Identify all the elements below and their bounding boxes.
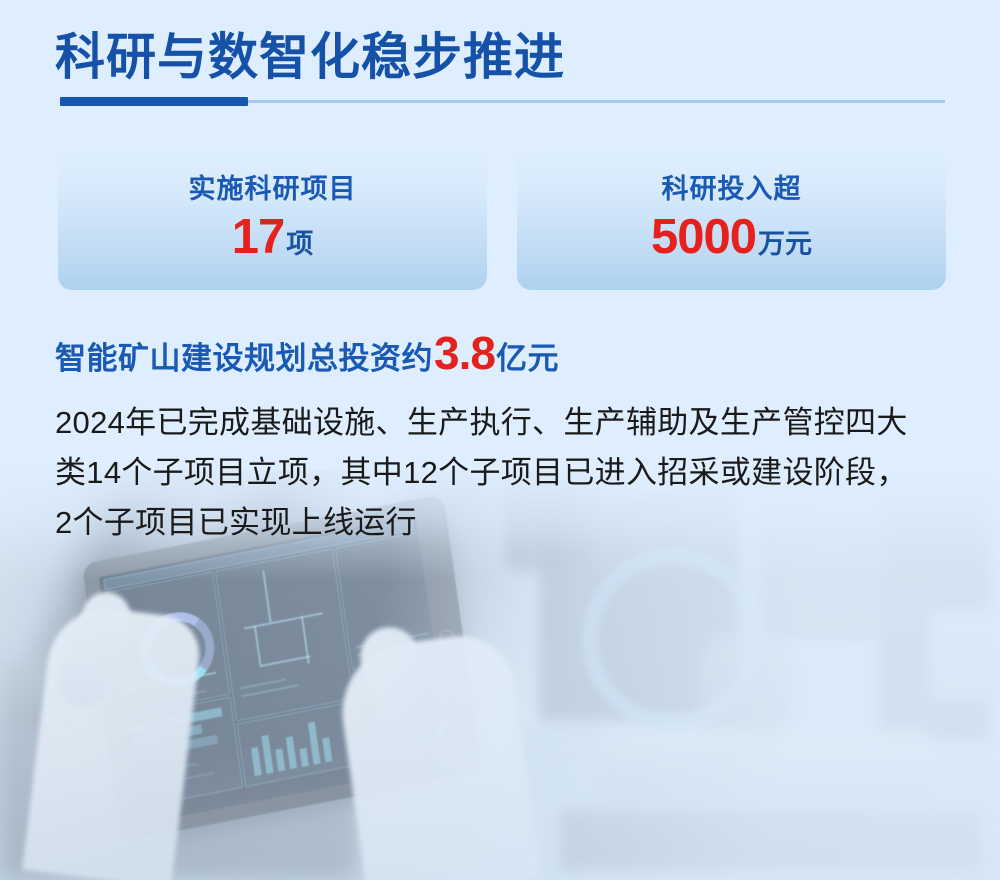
stat-number: 5000 <box>651 213 756 262</box>
stat-card-list: 实施科研项目 17 项 科研投入超 5000 万元 <box>58 152 946 290</box>
stat-card-research-investment: 科研投入超 5000 万元 <box>517 152 946 290</box>
body-paragraph: 2024年已完成基础设施、生产执行、生产辅助及生产管控四大类14个子项目立项，其… <box>55 398 915 548</box>
divider-accent-bar <box>60 97 248 106</box>
highlight-prefix: 智能矿山建设规划总投资约 <box>55 343 433 374</box>
stat-label: 科研投入超 <box>662 176 802 203</box>
stat-value: 17 项 <box>232 213 314 262</box>
stat-unit: 万元 <box>758 231 812 258</box>
stat-value: 5000 万元 <box>651 213 812 262</box>
infographic-poster: 科研与数智化稳步推进 实施科研项目 17 项 科研投入超 5000 万元 智能矿… <box>0 0 1000 880</box>
stat-card-research-projects: 实施科研项目 17 项 <box>58 152 487 290</box>
stat-unit: 项 <box>286 231 313 258</box>
page-title: 科研与数智化稳步推进 <box>55 27 565 87</box>
stat-number: 17 <box>232 213 285 262</box>
highlight-line: 智能矿山建设规划总投资约 3.8 亿元 <box>55 330 559 376</box>
highlight-suffix: 亿元 <box>496 343 559 374</box>
stat-label: 实施科研项目 <box>189 176 357 203</box>
highlight-number: 3.8 <box>434 330 495 376</box>
